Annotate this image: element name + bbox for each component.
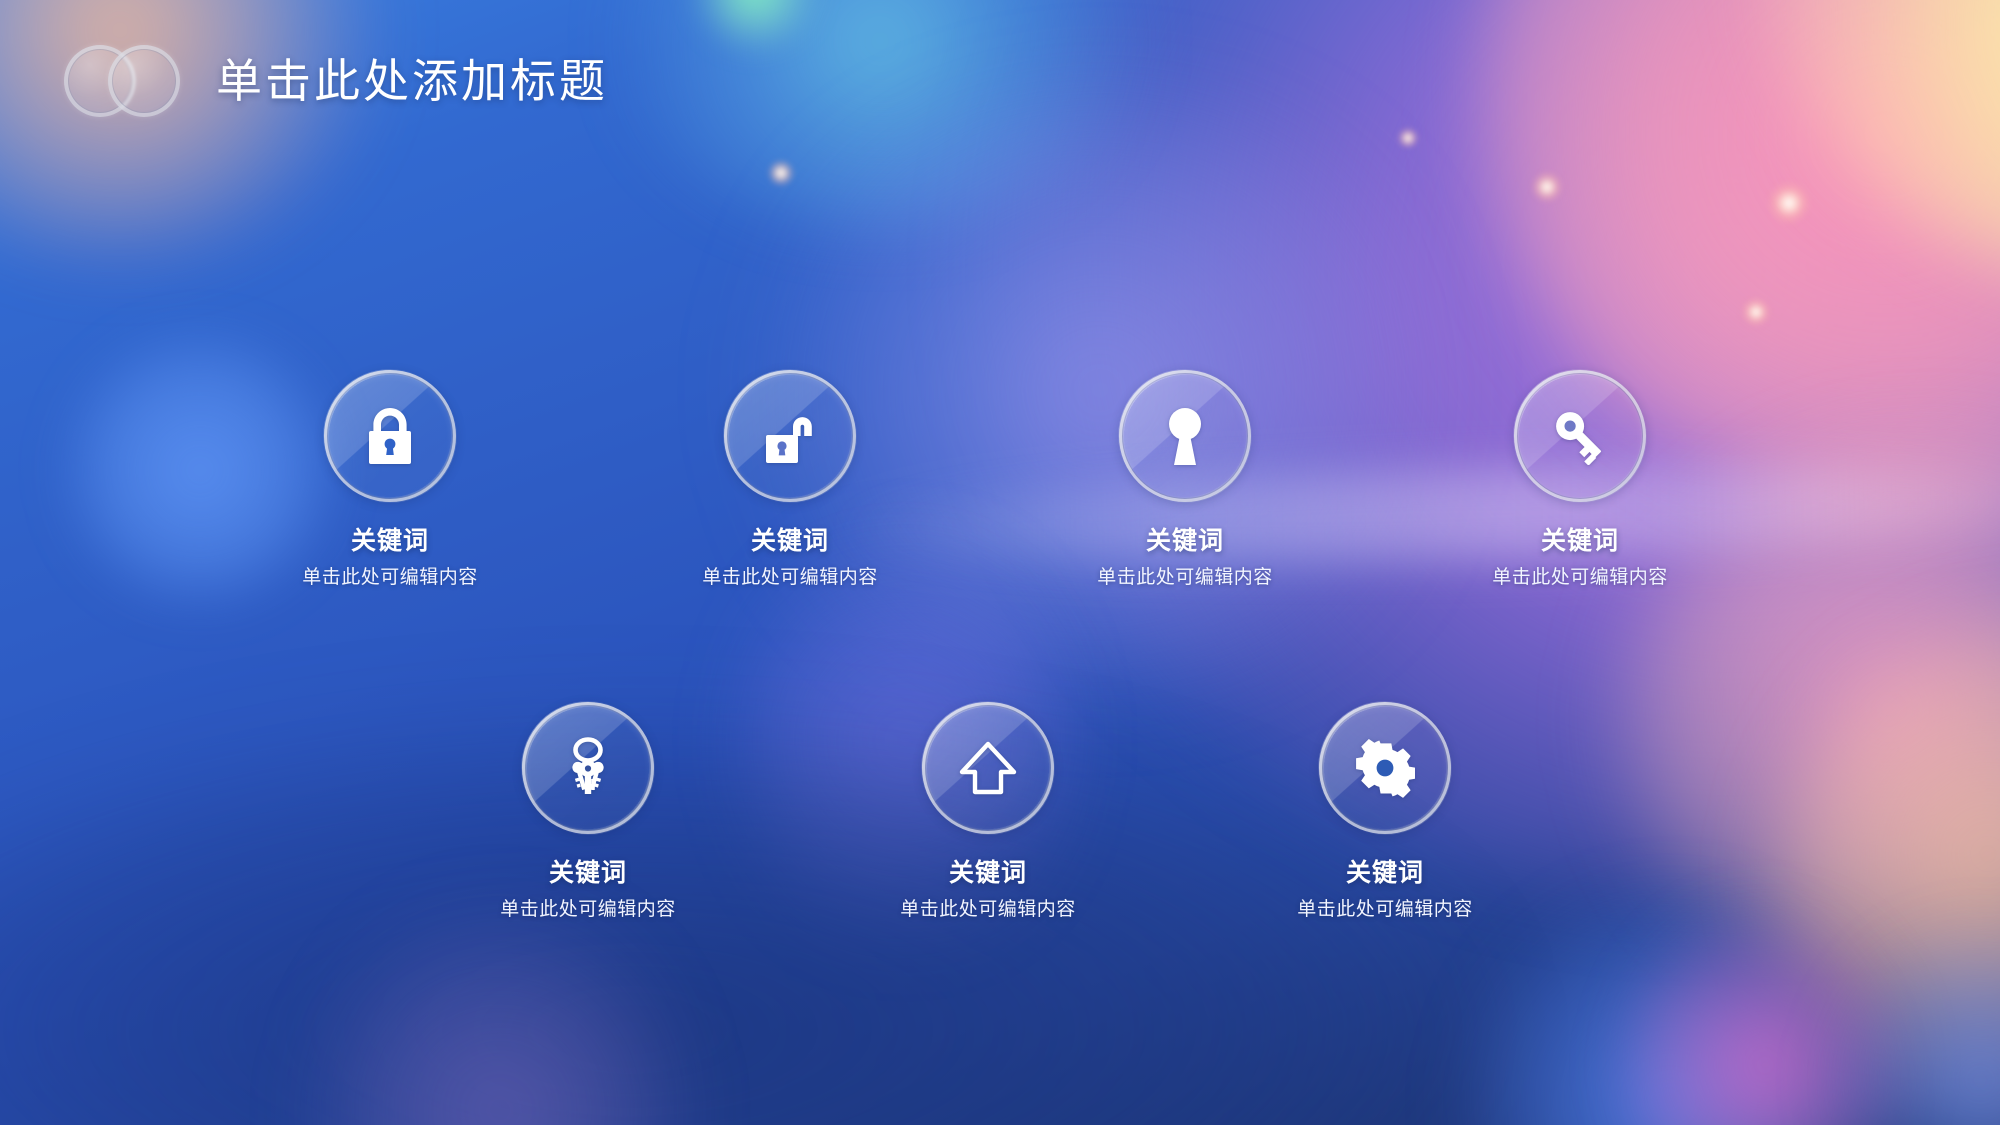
item-description[interactable]: 单击此处可编辑内容 [418, 900, 758, 921]
item-card-6[interactable]: 关键词 单击此处可编辑内容 [818, 702, 1158, 920]
keyhole-icon [1119, 370, 1251, 502]
key-icon [1514, 370, 1646, 502]
item-keyword[interactable]: 关键词 [1015, 528, 1355, 556]
keyring-keys-icon [522, 702, 654, 834]
item-card-2[interactable]: 关键词 单击此处可编辑内容 [620, 370, 960, 588]
up-arrow-outline-icon [922, 702, 1054, 834]
item-keyword[interactable]: 关键词 [418, 860, 758, 888]
icon-badge-2[interactable] [724, 370, 856, 502]
item-card-3[interactable]: 关键词 单击此处可编辑内容 [1015, 370, 1355, 588]
icon-badge-7[interactable] [1319, 702, 1451, 834]
items-grid: 关键词 单击此处可编辑内容 关键词 单击此处可编辑内容 [0, 0, 2000, 1125]
item-description[interactable]: 单击此处可编辑内容 [620, 568, 960, 589]
open-padlock-icon [724, 370, 856, 502]
item-card-5[interactable]: 关键词 单击此处可编辑内容 [418, 702, 758, 920]
item-card-4[interactable]: 关键词 单击此处可编辑内容 [1410, 370, 1750, 588]
item-keyword[interactable]: 关键词 [1410, 528, 1750, 556]
icon-badge-6[interactable] [922, 702, 1054, 834]
icon-badge-1[interactable] [324, 370, 456, 502]
slide: 单击此处添加标题 关键词 单击此处可编辑内容 [0, 0, 2000, 1125]
item-description[interactable]: 单击此处可编辑内容 [1410, 568, 1750, 589]
item-description[interactable]: 单击此处可编辑内容 [1015, 568, 1355, 589]
item-description[interactable]: 单击此处可编辑内容 [220, 568, 560, 589]
item-card-7[interactable]: 关键词 单击此处可编辑内容 [1215, 702, 1555, 920]
icon-badge-4[interactable] [1514, 370, 1646, 502]
item-keyword[interactable]: 关键词 [818, 860, 1158, 888]
item-card-1[interactable]: 关键词 单击此处可编辑内容 [220, 370, 560, 588]
item-description[interactable]: 单击此处可编辑内容 [818, 900, 1158, 921]
gear-icon [1319, 702, 1451, 834]
item-keyword[interactable]: 关键词 [620, 528, 960, 556]
item-description[interactable]: 单击此处可编辑内容 [1215, 900, 1555, 921]
icon-badge-3[interactable] [1119, 370, 1251, 502]
closed-padlock-icon [324, 370, 456, 502]
item-keyword[interactable]: 关键词 [1215, 860, 1555, 888]
icon-badge-5[interactable] [522, 702, 654, 834]
item-keyword[interactable]: 关键词 [220, 528, 560, 556]
